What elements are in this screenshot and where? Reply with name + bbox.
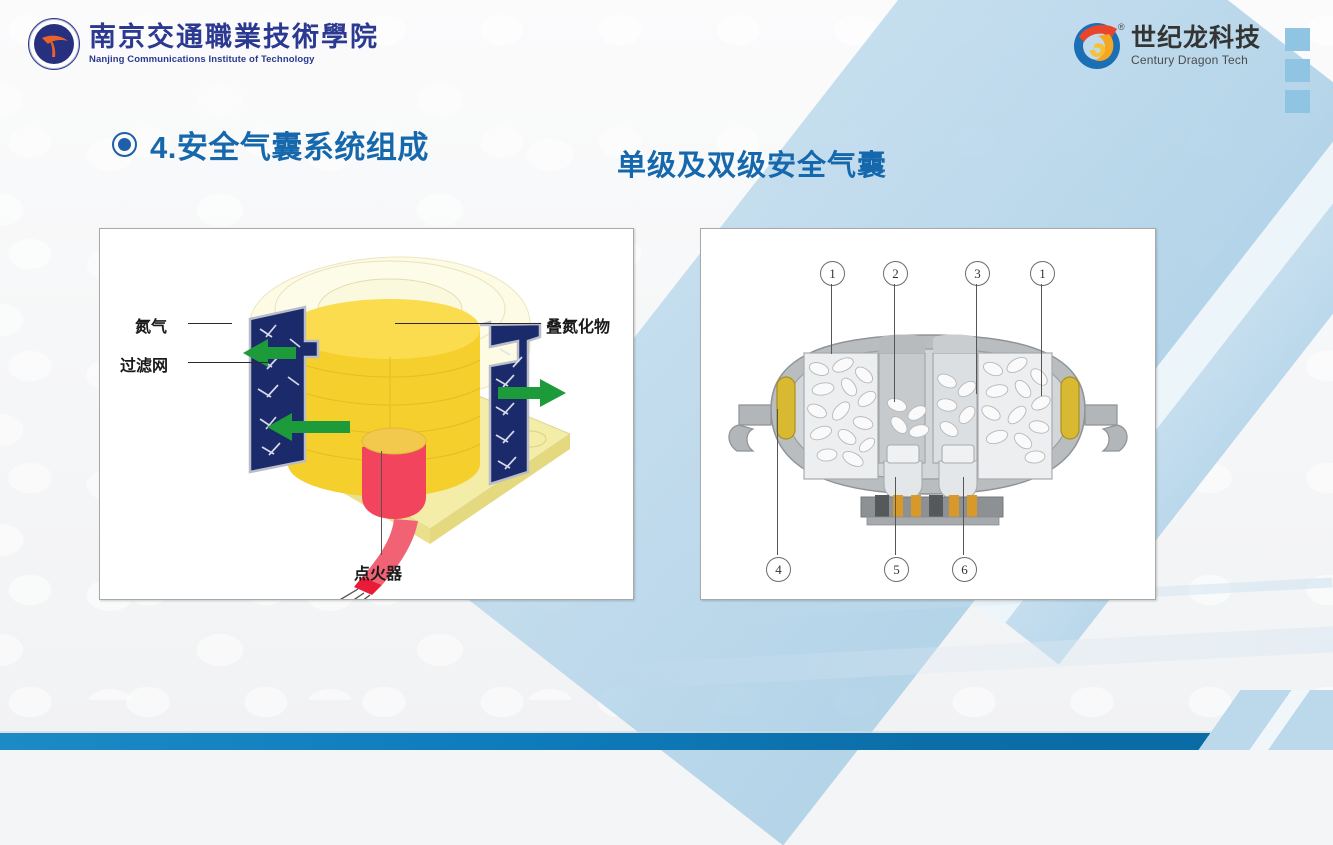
label-filter: 过滤网 <box>120 352 168 376</box>
bullet-inner-dot <box>118 138 131 151</box>
page-title-text: 4.安全气囊系统组成 <box>150 122 429 167</box>
label-azide: 叠氮化物 <box>546 313 610 337</box>
company-name-en: Century Dragon Tech <box>1131 54 1261 66</box>
leader-callout-3 <box>976 284 977 394</box>
leader-azide <box>395 323 541 324</box>
leader-callout-4 <box>777 409 778 555</box>
nanjing-seal-icon <box>28 18 80 70</box>
leader-callout-2 <box>894 284 895 402</box>
callout-4: 4 <box>766 557 791 582</box>
figure-left-frame: 氮气 过滤网 叠氮化物 点火器 <box>99 228 634 600</box>
university-logo-block: 南京交通職業技術學院 Nanjing Communications Instit… <box>28 18 379 70</box>
section-subtitle: 单级及双级安全气囊 <box>617 142 887 184</box>
leader-nitrogen <box>188 323 232 324</box>
label-igniter: 点火器 <box>354 560 402 584</box>
decor-square-2 <box>1285 59 1310 82</box>
airbag-inflator-cutaway <box>100 229 633 599</box>
company-logo-block: ® 世纪龙科技 Century Dragon Tech <box>1071 20 1261 72</box>
decor-square-3 <box>1285 90 1310 113</box>
company-name-block: 世纪龙科技 Century Dragon Tech <box>1131 26 1261 66</box>
dual-stage-inflator-section <box>701 229 1155 599</box>
century-dragon-icon: ® <box>1071 20 1123 72</box>
decor-square-1 <box>1285 28 1310 51</box>
university-name-cn: 南京交通職業技術學院 <box>89 24 379 51</box>
university-name-en: Nanjing Communications Institute of Tech… <box>89 55 379 65</box>
leader-filter <box>188 362 268 363</box>
registered-mark: ® <box>1118 22 1125 32</box>
seal-swoosh-icon <box>41 32 69 58</box>
target-bullet-icon <box>112 132 137 157</box>
slide-header: 南京交通職業技術學院 Nanjing Communications Instit… <box>0 0 1333 86</box>
leader-callout-1-right <box>1041 284 1042 396</box>
company-name-cn: 世纪龙科技 <box>1131 26 1261 51</box>
footer-ribbon-decor <box>1143 690 1333 750</box>
callout-2: 2 <box>883 261 908 286</box>
callout-3: 3 <box>965 261 990 286</box>
footer-bar <box>0 733 1333 750</box>
callout-1-right: 1 <box>1030 261 1055 286</box>
figure-right-frame: 1 2 3 1 4 5 6 <box>700 228 1156 600</box>
callout-5: 5 <box>884 557 909 582</box>
callout-6: 6 <box>952 557 977 582</box>
university-name-block: 南京交通職業技術學院 Nanjing Communications Instit… <box>89 24 379 65</box>
decor-squares <box>1285 28 1310 113</box>
leader-callout-1-left <box>831 284 832 354</box>
label-nitrogen: 氮气 <box>135 313 167 337</box>
callout-1-left: 1 <box>820 261 845 286</box>
leader-callout-6 <box>963 477 964 555</box>
leader-igniter <box>381 451 382 555</box>
leader-callout-5 <box>895 477 896 555</box>
page-title: 4.安全气囊系统组成 <box>112 122 429 167</box>
